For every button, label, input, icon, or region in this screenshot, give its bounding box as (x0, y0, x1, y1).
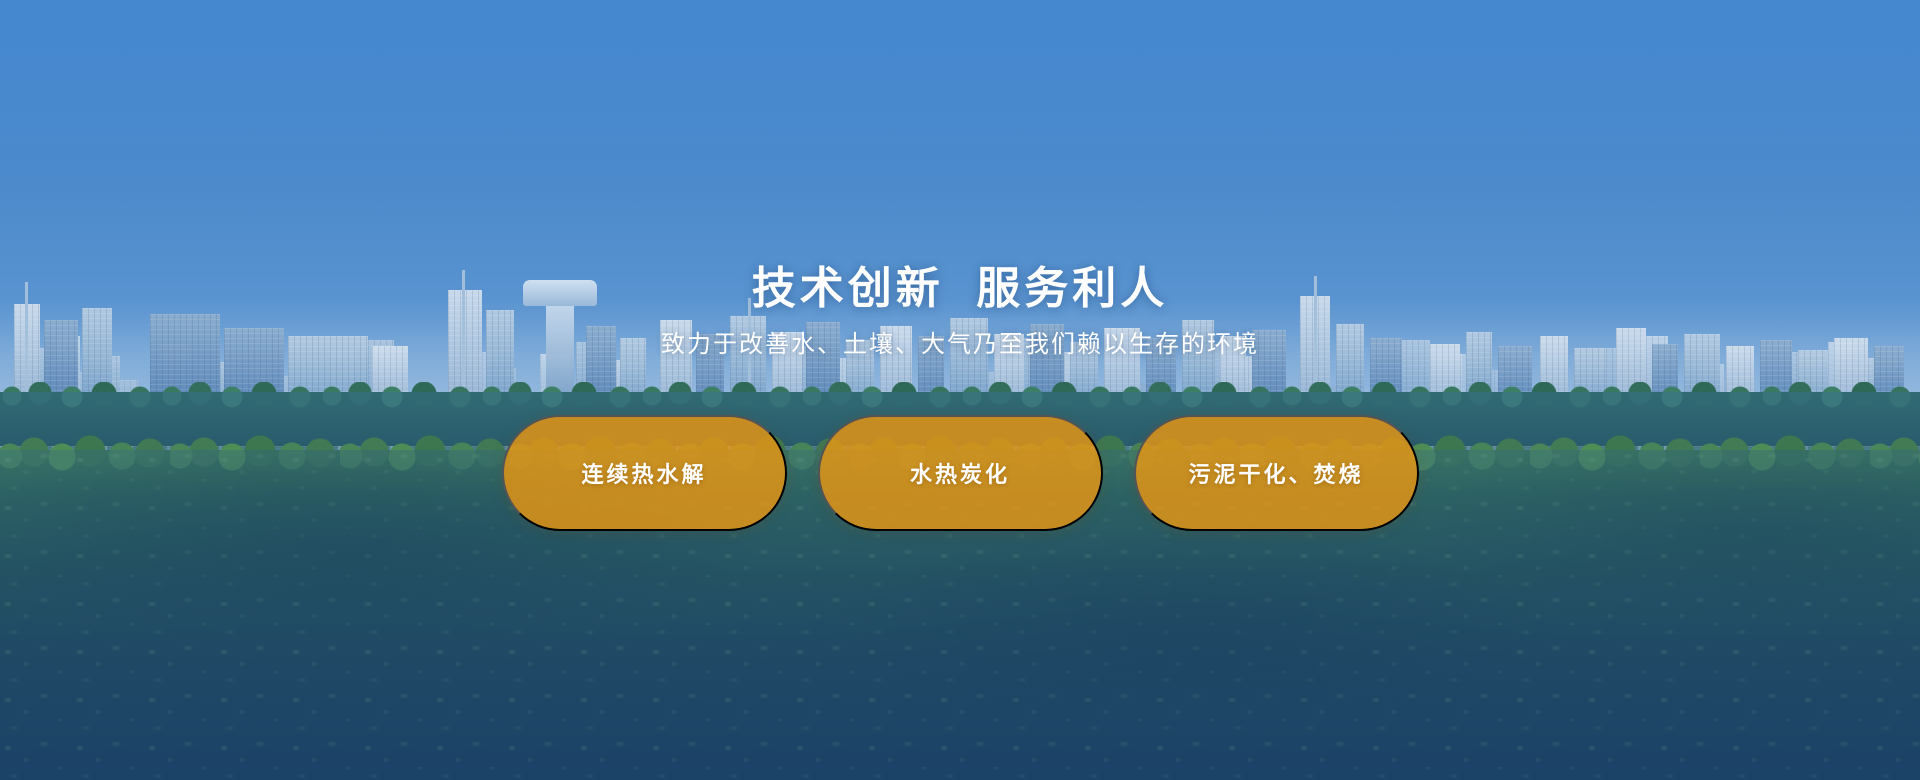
hero-content: 技术创新 服务利人 致力于改善水、土壤、大气乃至我们赖以生存的环境 连续热水解 … (0, 0, 1920, 780)
hero-banner: 技术创新 服务利人 致力于改善水、土壤、大气乃至我们赖以生存的环境 连续热水解 … (0, 0, 1920, 780)
cta-button-hydrothermal-carbonization[interactable]: 水热炭化 (818, 415, 1103, 531)
cta-button-continuous-thermal-hydrolysis[interactable]: 连续热水解 (502, 415, 787, 531)
cta-button-row: 连续热水解 水热炭化 污泥干化、焚烧 (502, 415, 1419, 531)
page-title: 技术创新 服务利人 (752, 264, 1168, 315)
cta-button-sludge-drying-incineration[interactable]: 污泥干化、焚烧 (1134, 415, 1419, 531)
page-subtitle: 致力于改善水、土壤、大气乃至我们赖以生存的环境 (661, 331, 1259, 360)
